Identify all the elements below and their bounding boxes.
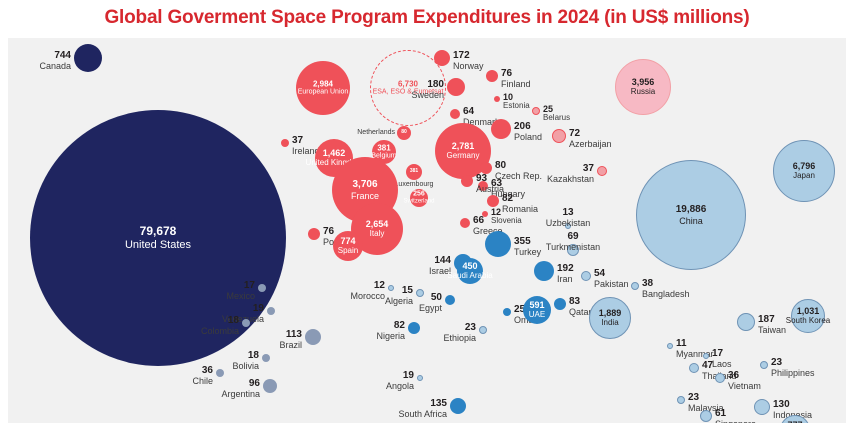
bubble-value: 144 (429, 255, 451, 266)
bubble-circle (416, 289, 424, 297)
bubble-value: 23 (443, 322, 476, 333)
bubble-value: 135 (398, 398, 447, 409)
bubble-circle (461, 175, 473, 187)
bubble-circle (754, 399, 770, 415)
bubble-circle (737, 313, 755, 331)
bubble-circle (485, 231, 511, 257)
bubble-circle (667, 343, 673, 349)
bubble-label: 12Slovenia (491, 207, 522, 226)
page-title: Global Goverment Space Program Expenditu… (0, 0, 854, 36)
bubble-label: 144Israel (429, 255, 451, 276)
bubble-value: 69 (546, 231, 600, 242)
bubble-circle (296, 61, 350, 115)
bubble-circle (406, 164, 422, 180)
bubble-label: 38Bangladesh (642, 278, 690, 299)
bubble-name: Pakistan (594, 279, 629, 289)
bubble-name: Israel (429, 266, 451, 276)
bubble-name: Egypt (419, 303, 442, 313)
bubble-label: 113Brazil (279, 329, 302, 350)
bubble-label: 36Chile (192, 365, 213, 386)
bubble-name: Luxembourg (395, 181, 434, 189)
bubble-circle (417, 375, 423, 381)
bubble-value: 47 (702, 360, 737, 371)
bubble-circle (523, 296, 551, 324)
bubble-value: 355 (514, 236, 541, 247)
bubble-circle (636, 160, 746, 270)
bubble-label: 83Qatar (569, 296, 592, 317)
bubble-name: Laos (712, 359, 732, 369)
chart-plot-area: 79,678United States744Canada2,984Europea… (8, 38, 846, 423)
bubble-value: 25 (543, 104, 570, 114)
bubble-label: 135South Africa (398, 398, 447, 419)
bubble-circle (397, 126, 411, 140)
bubble-circle (460, 218, 470, 228)
bubble-label: 72Azerbaijan (569, 128, 612, 149)
bubble-value: 192 (557, 263, 574, 274)
bubble-circle (791, 299, 825, 333)
bubble-value: 72 (569, 128, 612, 139)
bubble-label: 10Estonia (503, 92, 530, 111)
bubble-circle (258, 284, 266, 292)
bubble-circle (482, 211, 488, 217)
bubble-label: 19Angola (386, 370, 414, 391)
bubble-value: 63 (491, 178, 525, 189)
bubble-value: 82 (376, 320, 405, 331)
bubble-circle (689, 363, 699, 373)
bubble-name: Brazil (279, 340, 302, 350)
bubble-label: 17Laos (712, 348, 732, 369)
bubble-label: 61Singapore (715, 408, 756, 423)
bubble-circle (263, 379, 277, 393)
bubble-value: 11 (676, 338, 714, 349)
bubble-name: Singapore (715, 419, 756, 423)
bubble-label: 187Taiwan (758, 314, 786, 335)
bubble-circle (677, 396, 685, 404)
bubble-label: 96Argentina (221, 378, 260, 399)
bubble-circle (480, 162, 492, 174)
bubble-label: 36Vietnam (728, 370, 761, 391)
bubble-circle (554, 298, 566, 310)
bubble-name: Vietnam (728, 381, 761, 391)
bubble-value: 17 (712, 348, 732, 359)
bubble-value: 130 (773, 399, 812, 410)
bubble-label: 172Norway (453, 50, 484, 71)
bubble-name: Argentina (221, 389, 260, 399)
bubble-name: Poland (514, 132, 542, 142)
bubble-value: 54 (594, 268, 629, 279)
bubble-circle (478, 181, 488, 191)
bubble-name: Taiwan (758, 325, 786, 335)
bubble-value: 36 (728, 370, 761, 381)
bubble-circle (486, 70, 498, 82)
bubble-circle (308, 228, 320, 240)
bubble-circle (242, 319, 250, 327)
bubble-label: 355Turkey (514, 236, 541, 257)
bubble-name: Romania (502, 204, 538, 214)
bubble-value: 83 (569, 296, 592, 307)
bubble-circle (479, 326, 487, 334)
bubble-name: Turkey (514, 247, 541, 257)
bubble-circle (408, 322, 420, 334)
bubble-value: 64 (463, 106, 500, 117)
bubble-value: 206 (514, 121, 542, 132)
bubble-value: 13 (546, 207, 591, 218)
bubble-name: Iran (557, 274, 574, 284)
bubble-circle (434, 50, 450, 66)
bubble-label: 25Belarus (543, 104, 570, 123)
bubble-name: Bolivia (232, 361, 259, 371)
bubble-circle (565, 223, 571, 229)
bubble-circle (780, 415, 810, 423)
bubble-name: Kazakhstan (547, 174, 594, 184)
bubble-circle (773, 140, 835, 202)
bubble-label: 82Romania (502, 193, 538, 214)
bubble-label: 744Canada (39, 50, 71, 71)
bubble-value: 76 (501, 68, 531, 79)
bubble-name: Algeria (385, 296, 413, 306)
bubble-name: Estonia (503, 102, 530, 111)
bubble-value: 38 (642, 278, 690, 289)
bubble-label: 37Kazakhstan (547, 163, 594, 184)
bubble-name: Norway (453, 61, 484, 71)
bubble-chart-page: Global Goverment Space Program Expenditu… (0, 0, 854, 427)
bubble-value: 113 (279, 329, 302, 340)
bubble-name: Canada (39, 61, 71, 71)
bubble-name: Bangladesh (642, 289, 690, 299)
bubble-label: 80Czech Rep. (495, 160, 542, 181)
bubble-circle (74, 44, 102, 72)
bubble-circle (487, 195, 499, 207)
bubble-value: 61 (715, 408, 756, 419)
bubble-circle (262, 354, 270, 362)
bubble-value: 36 (192, 365, 213, 376)
bubble-circle (760, 361, 768, 369)
bubble-circle (305, 329, 321, 345)
bubble-value: 23 (771, 357, 815, 368)
bubble-name: South Africa (398, 409, 447, 419)
bubble-label: Luxembourg (395, 181, 434, 189)
bubble-circle (450, 109, 460, 119)
bubble-circle (567, 244, 579, 256)
bubble-label: 23Philippines (771, 357, 815, 378)
bubble-value: 96 (221, 378, 260, 389)
bubble-label: Netherlands (357, 129, 395, 137)
bubble-circle (445, 295, 455, 305)
bubble-circle (532, 107, 540, 115)
bubble-circle (700, 410, 712, 422)
bubble-label: 18Bolivia (232, 350, 259, 371)
bubble-value: 10 (503, 92, 530, 102)
bubble-value: 12 (350, 280, 385, 291)
bubble-circle (534, 261, 554, 281)
bubble-value: 82 (502, 193, 538, 204)
bubble-circle (589, 297, 631, 339)
bubble-label: 76Finland (501, 68, 531, 89)
bubble-value: 23 (688, 392, 724, 403)
bubble-value: 744 (39, 50, 71, 61)
bubble-circle (30, 110, 286, 366)
bubble-label: 192Iran (557, 263, 574, 284)
bubble-value: 80 (495, 160, 542, 171)
bubble-circle (597, 166, 607, 176)
bubble-circle (267, 307, 275, 315)
bubble-value: 18 (232, 350, 259, 361)
bubble-circle (333, 231, 363, 261)
bubble-circle (552, 129, 566, 143)
bubble-name: Ethiopia (443, 333, 476, 343)
bubble-label: 82Nigeria (376, 320, 405, 341)
bubble-circle (503, 308, 511, 316)
bubble-value: 172 (453, 50, 484, 61)
bubble-value: 12 (491, 207, 522, 217)
bubble-circle (715, 373, 725, 383)
bubble-name: Azerbaijan (569, 139, 612, 149)
bubble-name: Philippines (771, 368, 815, 378)
bubble-circle (457, 258, 483, 284)
bubble-circle (388, 285, 394, 291)
bubble-circle (447, 78, 465, 96)
bubble-circle (494, 96, 500, 102)
bubble-circle (703, 353, 709, 359)
bubble-label: 12Morocco (350, 280, 385, 301)
bubble-label: 54Pakistan (594, 268, 629, 289)
bubble-name: Netherlands (357, 129, 395, 137)
bubble-circle (450, 398, 466, 414)
bubble-name: Czech Rep. (495, 171, 542, 181)
bubble-label: 206Poland (514, 121, 542, 142)
bubble-circle (491, 119, 511, 139)
bubble-circle (631, 282, 639, 290)
bubble-label: 23Ethiopia (443, 322, 476, 343)
bubble-circle (281, 139, 289, 147)
bubble-value: 187 (758, 314, 786, 325)
bubble-value: 37 (547, 163, 594, 174)
bubble-name: Finland (501, 79, 531, 89)
bubble-name: Chile (192, 376, 213, 386)
bubble-circle (581, 271, 591, 281)
bubble-name: Morocco (350, 291, 385, 301)
bubble-value: 19 (386, 370, 414, 381)
bubble-name: Belarus (543, 114, 570, 123)
bubble-name: Angola (386, 381, 414, 391)
bubble-value: 66 (473, 215, 503, 226)
bubble-name: Nigeria (376, 331, 405, 341)
bubble-circle (615, 59, 671, 115)
bubble-name: Slovenia (491, 217, 522, 226)
bubble-circle (216, 369, 224, 377)
bubble-circle (410, 189, 428, 207)
bubble-value: 37 (292, 135, 320, 146)
